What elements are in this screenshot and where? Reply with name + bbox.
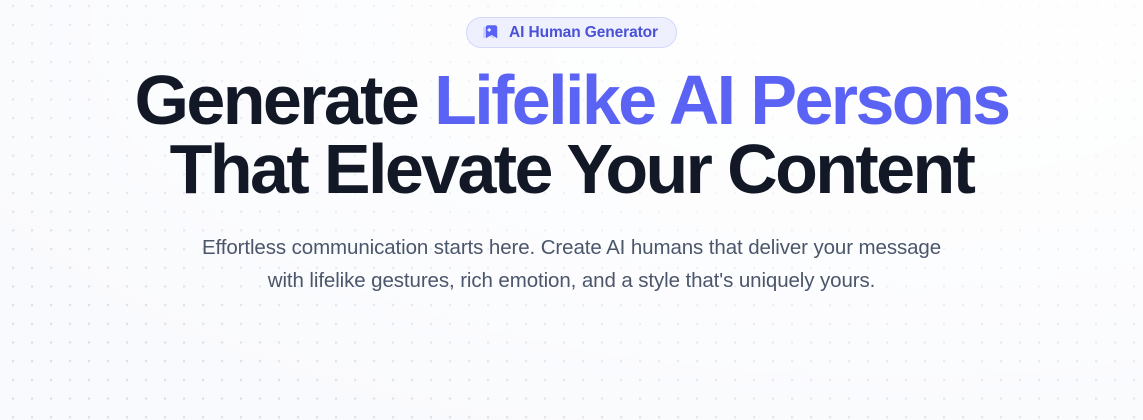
- page-title: Generate Lifelike AI Persons That Elevat…: [0, 66, 1143, 205]
- headline-line-2: That Elevate Your Content: [0, 135, 1143, 204]
- headline-line-1: Generate Lifelike AI Persons: [0, 66, 1143, 135]
- hero-content: AI Human Generator Generate Lifelike AI …: [0, 0, 1143, 420]
- page-subtitle: Effortless communication starts here. Cr…: [0, 231, 1143, 297]
- headline-line-1-plain: Generate: [135, 61, 435, 139]
- headline-line-1-accent: Lifelike AI Persons: [434, 61, 1008, 139]
- hero-section: AI Human Generator Generate Lifelike AI …: [0, 0, 1143, 420]
- ai-human-generator-badge[interactable]: AI Human Generator: [466, 17, 677, 48]
- subtitle-line-2: with lifelike gestures, rich emotion, an…: [0, 264, 1143, 297]
- subtitle-line-1: Effortless communication starts here. Cr…: [0, 231, 1143, 264]
- badge-label: AI Human Generator: [509, 25, 658, 41]
- badge-icon-wrapper: [480, 23, 500, 43]
- bookmark-plus-icon: [480, 23, 500, 43]
